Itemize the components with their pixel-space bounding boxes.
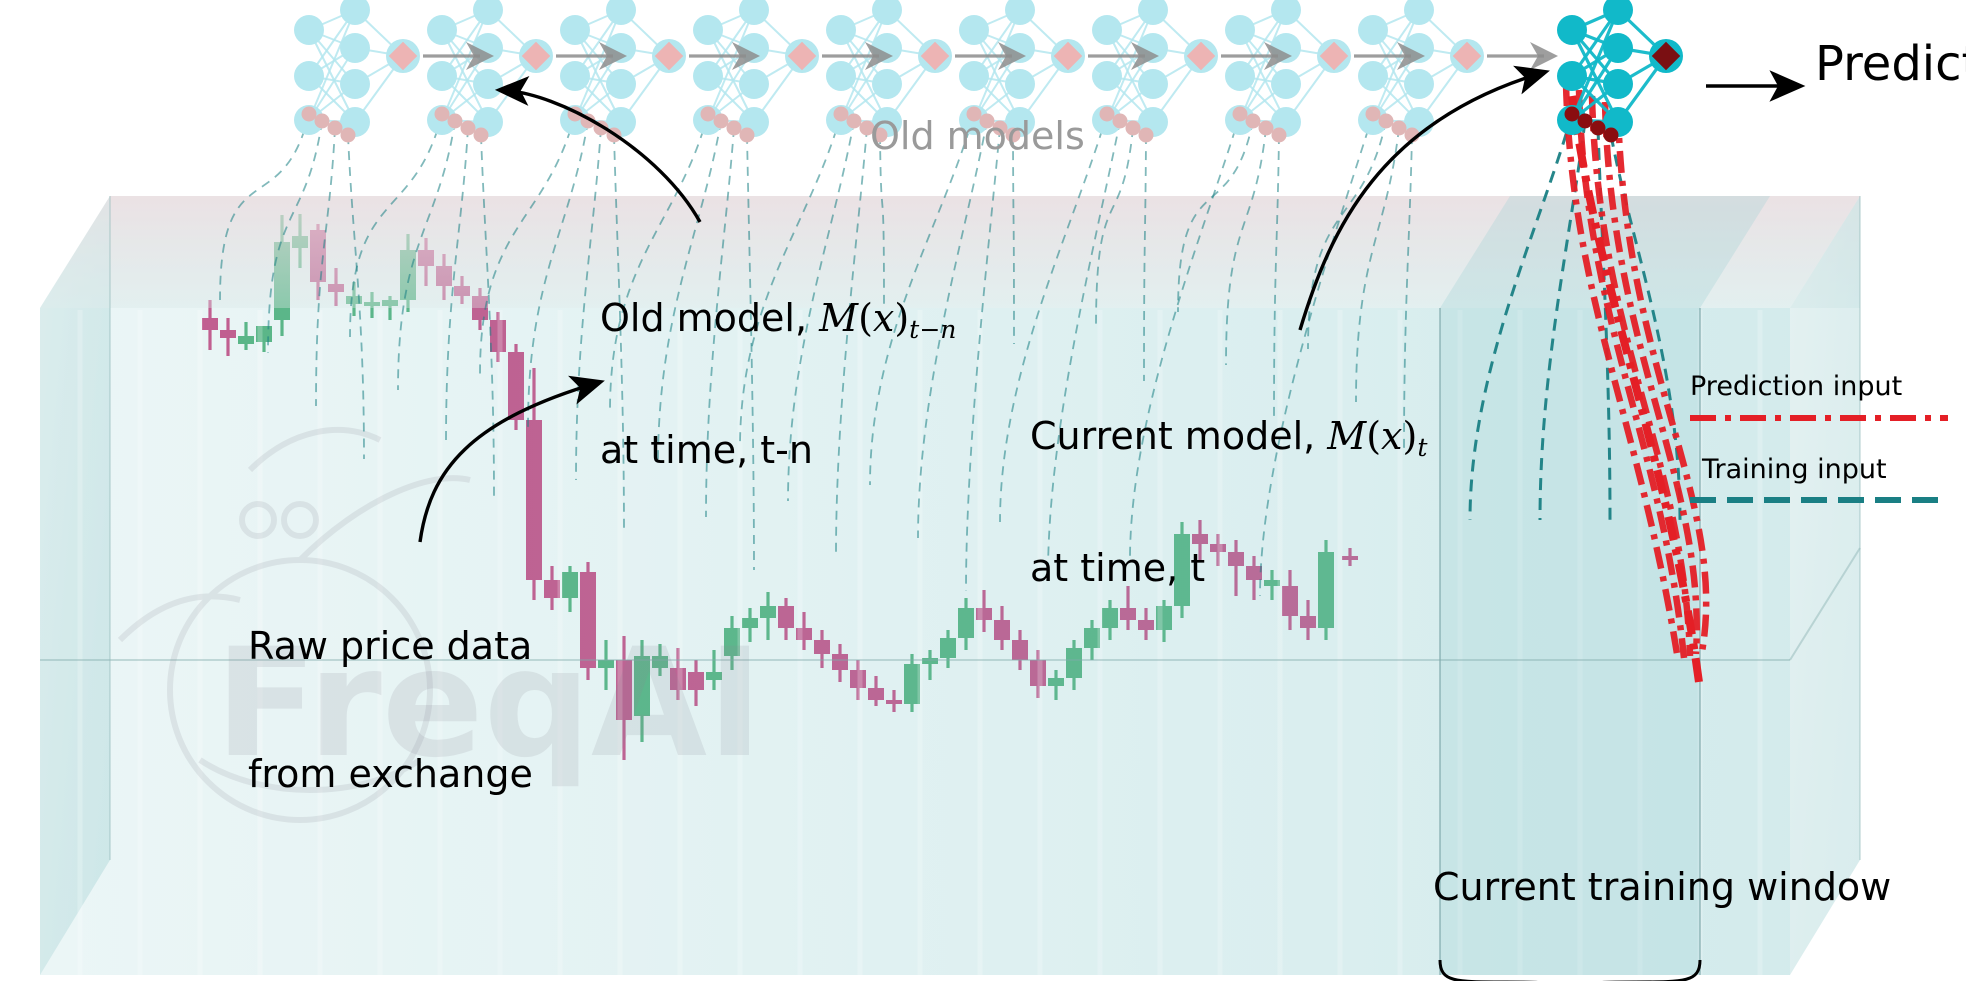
candle — [886, 690, 902, 712]
candle — [382, 296, 398, 320]
prediction-input-line — [1592, 96, 1690, 656]
current-model-annotation-line1: Current model, M(x)t — [1030, 415, 1427, 462]
raw-price-line1: Raw price data — [248, 625, 533, 668]
model-chain-arrow — [955, 42, 1026, 70]
old-model-math-paren-close: ) — [894, 296, 909, 340]
candle — [616, 636, 632, 760]
candle — [220, 318, 236, 356]
candle — [832, 644, 848, 682]
candle — [976, 590, 992, 632]
current-model-annotation: Current model, M(x)t at time, t — [1030, 330, 1427, 632]
candle — [868, 676, 884, 706]
candle — [850, 660, 866, 700]
candle — [994, 606, 1010, 650]
training-input-line — [1540, 121, 1585, 520]
candle — [472, 288, 488, 330]
old-model-math-x: x — [873, 296, 894, 340]
old-model-network — [1358, 0, 1484, 143]
model-chain-arrow — [1487, 42, 1558, 70]
candle — [814, 630, 830, 668]
training-input-line — [1598, 128, 1610, 520]
old-model-math-subscript: t−n — [909, 315, 956, 344]
raw-price-line2: from exchange — [248, 753, 533, 796]
candle — [598, 640, 614, 690]
candle — [1048, 670, 1064, 700]
old-model-network — [1092, 0, 1218, 143]
model-chain-arrow — [556, 42, 627, 70]
training-input-line — [966, 128, 1000, 591]
arrow-raw-price — [420, 382, 600, 542]
candle — [778, 598, 794, 640]
candle — [1066, 640, 1082, 690]
model-chain-arrow — [1354, 42, 1425, 70]
training-input-line — [1470, 114, 1572, 520]
training-input-line — [576, 128, 601, 480]
candle — [958, 598, 974, 650]
training-input-line — [480, 114, 575, 374]
candle — [688, 660, 704, 706]
training-input-line — [528, 121, 588, 427]
training-input-line — [220, 114, 309, 300]
training-window-label: Current training window — [1433, 866, 1891, 909]
training-input-line — [268, 121, 322, 353]
candle — [238, 322, 254, 350]
candle — [436, 254, 452, 300]
candle — [544, 566, 560, 610]
candle — [508, 344, 524, 430]
candle — [760, 592, 776, 640]
old-model-math-m: M — [819, 296, 858, 340]
candle — [922, 650, 938, 680]
candle — [274, 215, 290, 336]
candle — [202, 300, 218, 350]
current-model-math-x: x — [1381, 414, 1402, 458]
candle — [904, 654, 920, 712]
prediction-input-line — [1566, 84, 1678, 660]
legend-label-prediction-input: Prediction input — [1690, 372, 1902, 402]
old-model-network — [560, 0, 686, 143]
candle — [634, 640, 650, 742]
candle — [346, 282, 362, 316]
candle — [742, 608, 758, 642]
old-model-network — [1225, 0, 1351, 143]
current-model-math-paren-open: ( — [1366, 414, 1381, 458]
prediction-main-curve — [1572, 96, 1700, 690]
current-model-math-m: M — [1327, 414, 1366, 458]
prediction-input-line — [1579, 90, 1684, 658]
candle — [706, 650, 722, 690]
training-input-line — [1611, 135, 1680, 520]
raw-price-annotation: Raw price data from exchange — [248, 540, 533, 838]
current-model-math-paren-close: ) — [1402, 414, 1417, 458]
old-models-label: Old models — [870, 115, 1085, 158]
model-chain-arrow — [689, 42, 760, 70]
candle — [796, 612, 812, 650]
old-model-annotation: Old model, M(x)t−n at time, t-n — [600, 212, 956, 514]
model-chain-arrow — [423, 42, 494, 70]
training-input-line — [350, 114, 442, 337]
candle — [1012, 630, 1028, 670]
current-model-annotation-line2: at time, t — [1030, 547, 1427, 590]
candle — [292, 214, 308, 268]
candle — [310, 224, 326, 300]
training-input-line — [446, 128, 468, 443]
old-model-prefix: Old model, — [600, 296, 819, 340]
old-model-annotation-line1: Old model, M(x)t−n — [600, 297, 956, 344]
candle — [562, 566, 578, 612]
prediction-input-line — [1605, 102, 1697, 654]
old-model-annotation-line2: at time, t-n — [600, 429, 956, 472]
candle — [1030, 650, 1046, 698]
training-input-line — [1013, 135, 1014, 344]
old-model-network — [427, 0, 553, 143]
prediction-label: Prediction — [1815, 38, 1966, 92]
candle — [454, 276, 470, 304]
training-input-line — [316, 128, 335, 406]
training-input-line — [348, 135, 364, 459]
candle — [418, 238, 434, 286]
candle — [328, 268, 344, 306]
candle — [580, 562, 596, 680]
arrow-current-model — [1300, 72, 1545, 330]
training-input-line — [1096, 128, 1133, 328]
candle — [400, 234, 416, 312]
old-model-network — [294, 0, 420, 143]
candle — [490, 312, 506, 362]
candle — [652, 644, 668, 676]
candle — [256, 326, 272, 352]
training-input-line — [1308, 121, 1386, 349]
model-chain-arrow — [1088, 42, 1159, 70]
candle — [670, 648, 686, 700]
training-window-brace — [1440, 960, 1700, 981]
training-input-line — [398, 121, 455, 390]
model-chain-arrow — [1221, 42, 1292, 70]
arrow-old-model — [500, 90, 700, 222]
legend-label-training-input: Training input — [1702, 455, 1887, 485]
training-input-line — [1178, 121, 1253, 312]
candle — [364, 292, 380, 318]
current-model-network — [1557, 0, 1683, 143]
training-input-line — [481, 135, 494, 496]
current-model-math-subscript: t — [1417, 433, 1427, 462]
candle — [724, 616, 740, 670]
current-model-prefix: Current model, — [1030, 414, 1327, 458]
candle — [940, 630, 956, 668]
old-model-math-paren-open: ( — [858, 296, 873, 340]
model-chain-arrow — [822, 42, 893, 70]
old-model-network — [693, 0, 819, 143]
